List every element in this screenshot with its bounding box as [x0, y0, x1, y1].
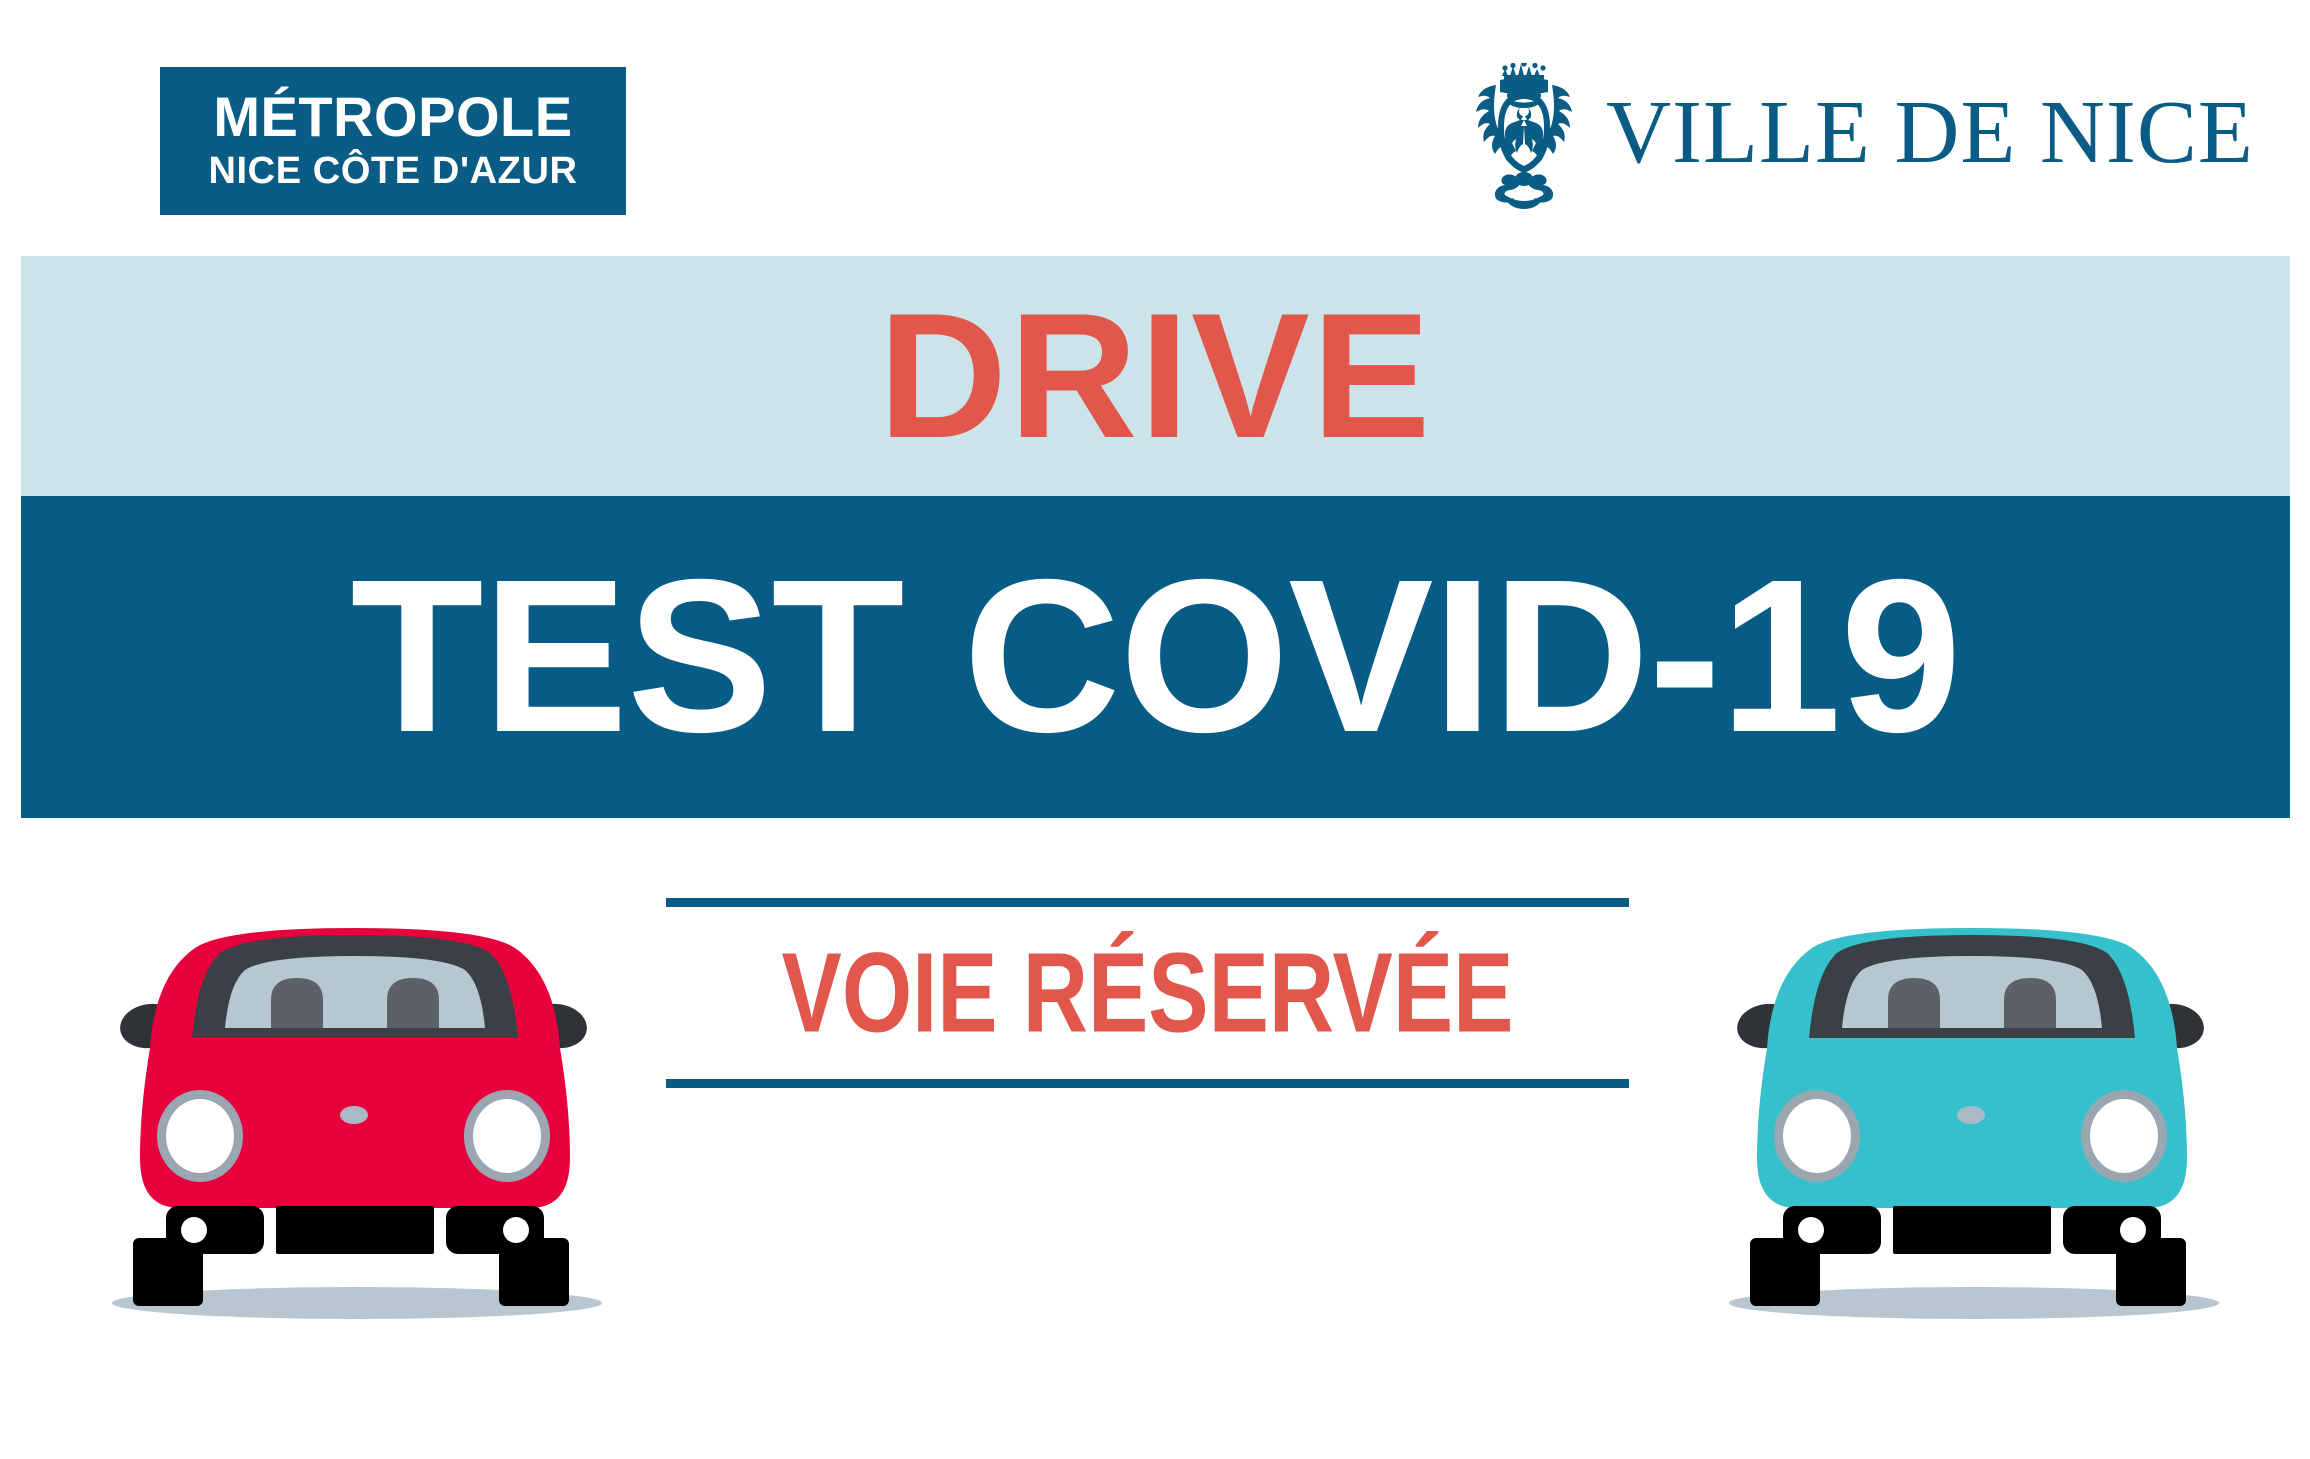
ville-de-nice-wordmark: VILLE DE NICE: [1606, 88, 2254, 178]
metropole-logo-line1: MÉTROPOLE: [213, 89, 572, 145]
ville-de-nice-logo: VILLE DE NICE: [1460, 62, 2254, 212]
test-covid-banner: TEST COVID-19: [21, 496, 2290, 818]
callout-rule-bottom: [666, 1079, 1629, 1088]
metropole-logo-line2: NICE CÔTE D'AZUR: [208, 152, 577, 190]
drive-title: DRIVE: [21, 287, 2290, 465]
nice-coat-of-arms-icon: [1460, 63, 1588, 211]
drive-banner: DRIVE: [21, 256, 2290, 496]
poster-canvas: MÉTROPOLE NICE CÔTE D'AZUR: [0, 0, 2310, 1459]
teal-car-illustration: [1712, 908, 2232, 1328]
red-car-illustration: [95, 908, 615, 1328]
voie-reservee-callout: VOIE RÉSERVÉE: [666, 898, 1629, 1088]
voie-reservee-label: VOIE RÉSERVÉE: [762, 937, 1532, 1050]
callout-rule-top: [666, 898, 1629, 907]
test-covid-title: TEST COVID-19: [21, 548, 2290, 766]
metropole-nice-cote-dazur-logo: MÉTROPOLE NICE CÔTE D'AZUR: [160, 67, 626, 215]
